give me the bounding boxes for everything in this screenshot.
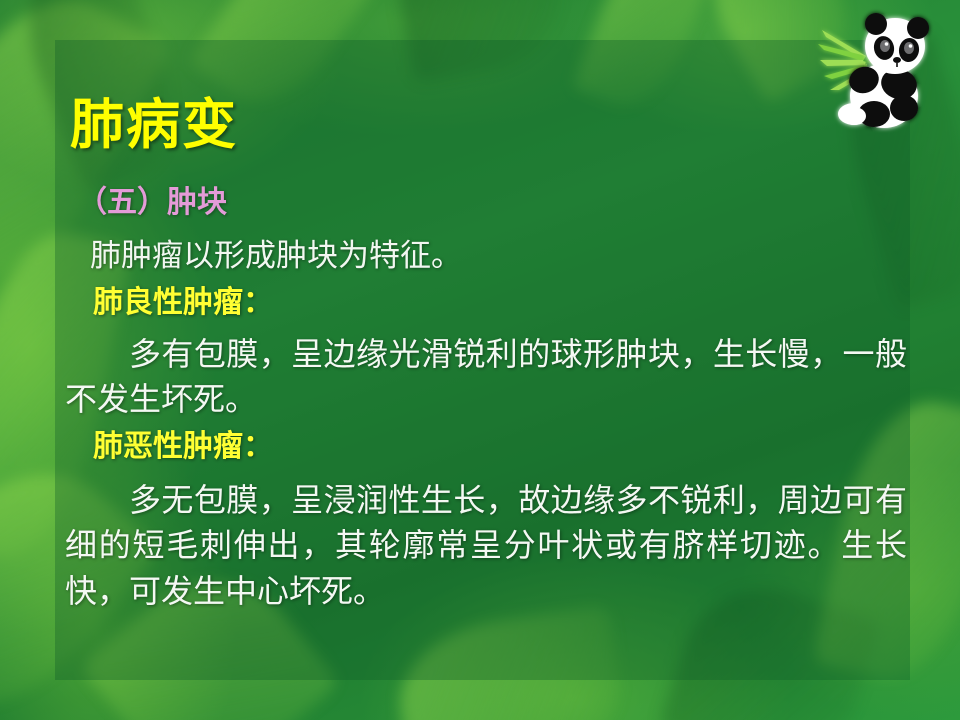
- lead-paragraph: 肺肿瘤以形成肿块为特征。: [90, 238, 462, 275]
- benign-tumor-paragraph: 多有包膜，呈边缘光滑锐利的球形肿块，生长慢，一般不发生坏死。: [65, 332, 907, 423]
- benign-tumor-heading: 肺良性肿瘤：: [93, 288, 273, 318]
- malignant-tumor-paragraph: 多无包膜，呈浸润性生长，故边缘多不锐利，周边可有细的短毛刺伸出，其轮廓常呈分叶状…: [65, 478, 907, 614]
- page-title: 肺病变: [70, 98, 238, 152]
- panda-with-bamboo-icon: [806, 4, 946, 144]
- slide-content: 肺病变 （五）肿块 肺肿瘤以形成肿块为特征。 肺良性肿瘤： 多有包膜，呈边缘光滑…: [55, 40, 910, 680]
- slide-canvas: 肺病变 （五）肿块 肺肿瘤以形成肿块为特征。 肺良性肿瘤： 多有包膜，呈边缘光滑…: [0, 0, 960, 720]
- malignant-tumor-heading: 肺恶性肿瘤：: [93, 432, 273, 462]
- section-heading: （五）肿块: [77, 188, 227, 218]
